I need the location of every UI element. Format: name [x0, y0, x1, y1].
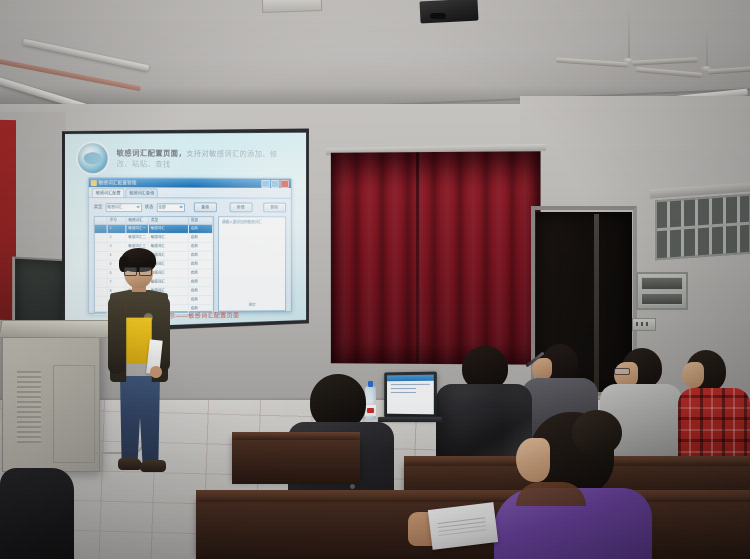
filter-status-select[interactable]: 全部 [156, 203, 184, 212]
grid-row[interactable]: 2敏感词汇二敏感词汇启用 [95, 234, 213, 243]
filter-type-label: 类型 [94, 204, 103, 210]
barred-window [655, 194, 750, 261]
bench-left [232, 440, 360, 484]
minimize-button[interactable] [261, 179, 270, 187]
grid-cell: 启用 [189, 234, 213, 242]
maximize-button[interactable] [271, 180, 280, 188]
side-panel: 请输入要添加的敏感词汇 确定 [218, 216, 286, 312]
jacket-button [350, 484, 355, 489]
attendee-red-plaid-face [682, 362, 704, 388]
grid-cell: 启用 [189, 278, 213, 286]
side-panel-note: 请输入要添加的敏感词汇 [222, 220, 282, 225]
podium-panel [53, 365, 95, 463]
handout-papers [428, 502, 498, 550]
curtain-fold [416, 152, 419, 364]
presenter-jeans [120, 376, 160, 462]
attendee-red-plaid-shirt [678, 388, 750, 464]
presenter-shoe-right [140, 460, 166, 472]
col-status: 状态 [189, 217, 213, 224]
laptop-text-line [391, 384, 430, 385]
col-check [95, 217, 108, 224]
presenter-glasses-icon [124, 267, 152, 274]
app-tabs[interactable]: 敏感词汇配置 敏感词汇查询 [89, 187, 291, 199]
add-button[interactable]: 新增 [229, 202, 252, 212]
attendee-foreground-left [0, 468, 74, 559]
attendee-red-plaid [678, 350, 750, 458]
grid-cell: 启用 [189, 269, 213, 277]
grid-cell: 敏感词汇一 [126, 225, 149, 233]
presenter [104, 248, 174, 480]
stage-curtain [331, 151, 541, 364]
grid-row[interactable]: 1敏感词汇一敏感词汇启用 [95, 225, 213, 234]
presenter-shoe-left [118, 458, 142, 470]
attendee-purple-hood-face [516, 438, 550, 482]
presenter-arm-left [108, 296, 125, 374]
tab-config[interactable]: 敏感词汇配置 [92, 188, 125, 197]
slide-title-dim: 支持对敏感词汇的添加、修 [186, 149, 277, 159]
grid-cell: 启用 [189, 296, 213, 304]
vent-slot-bottom [641, 293, 683, 306]
tab-query[interactable]: 敏感词汇查询 [126, 188, 159, 197]
vent-slot-top [641, 277, 683, 290]
wall-vent [636, 272, 688, 310]
podium-top-surface [0, 320, 112, 338]
close-button[interactable] [280, 180, 289, 188]
presenter-hand [150, 366, 162, 378]
col-no: 序号 [108, 217, 127, 224]
col-word: 敏感词汇 [126, 217, 149, 224]
grid-cell: 启用 [189, 243, 213, 251]
power-outlet [632, 318, 656, 331]
side-panel-confirm[interactable]: 确定 [219, 302, 285, 307]
podium-vent-grille [17, 371, 41, 443]
institution-emblem-icon [78, 143, 108, 173]
slide-title-line2: 改、粘贴、查找 [117, 159, 171, 168]
grid-cell: 启用 [189, 252, 213, 260]
grid-cell [95, 234, 108, 242]
podium-cabinet [2, 330, 100, 472]
app-icon [91, 180, 97, 186]
window-controls[interactable] [261, 179, 289, 187]
fan-rod-left [628, 8, 630, 60]
delete-button[interactable]: 删除 [263, 203, 286, 213]
slide-title: 敏感词汇配置页面，支持对敏感词汇的添加、修 改、粘贴、查找 [117, 147, 299, 170]
filter-type-select[interactable]: 敏感词汇 [105, 203, 141, 212]
grid-header: 序号 敏感词汇 类型 状态 [95, 217, 213, 225]
grid-cell: 启用 [189, 225, 213, 233]
grid-cell: 启用 [189, 287, 213, 295]
search-button[interactable]: 查询 [193, 202, 216, 212]
attendee-grey-sweat-glasses-icon [614, 368, 630, 375]
grid-cell: 1 [108, 225, 127, 233]
screen-surface: 敏感词汇配置页面，支持对敏感词汇的添加、修 改、粘贴、查找 敏感词汇配置管理 敏… [65, 129, 306, 331]
projection-screen: 敏感词汇配置页面，支持对敏感词汇的添加、修 改、粘贴、查找 敏感词汇配置管理 敏… [62, 126, 309, 334]
grid-cell: 敏感词汇二 [126, 234, 149, 242]
ceiling-vent-icon [262, 0, 323, 13]
app-filter-row: 类型 敏感词汇 状态 全部 查询 新增 删除 [89, 198, 291, 216]
attendee-purple-hood [494, 406, 654, 559]
grid-cell: 敏感词汇 [149, 234, 189, 242]
grid-cell: 敏感词汇 [149, 225, 189, 233]
classroom-presentation-photo: 敏感词汇配置页面，支持对敏感词汇的添加、修 改、粘贴、查找 敏感词汇配置管理 敏… [0, 0, 750, 559]
grid-cell: 启用 [189, 261, 213, 269]
grid-cell: 2 [108, 234, 127, 242]
attendee-purple-hood-bun [572, 410, 622, 456]
fan-rod-right [706, 24, 708, 68]
projector-lens-icon [430, 13, 446, 19]
grid-cell [95, 225, 108, 233]
projector-mount [419, 0, 478, 24]
app-title-text: 敏感词汇配置管理 [99, 180, 137, 186]
filter-status-label: 状态 [145, 204, 154, 210]
attendee-purple-hood-collar [516, 482, 586, 506]
col-type: 类型 [149, 217, 189, 224]
slide-title-main: 敏感词汇配置页面， [117, 148, 187, 157]
